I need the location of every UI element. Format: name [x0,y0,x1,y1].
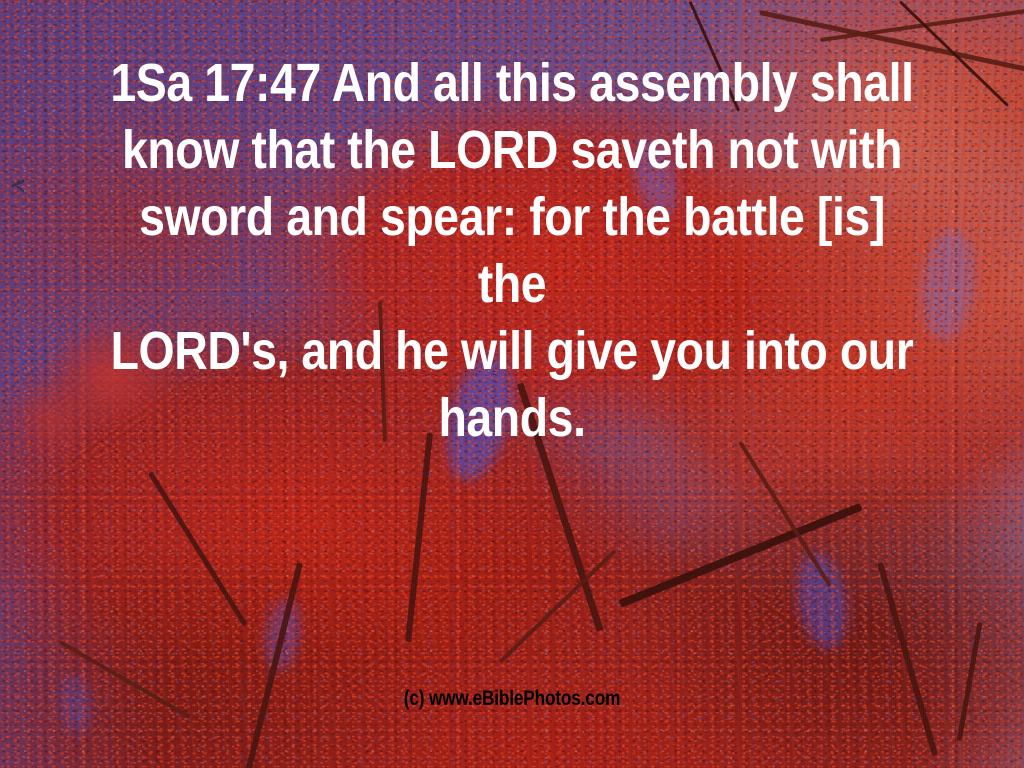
verse-text: 1Sa 17:47 And all this assembly shall kn… [72,50,953,452]
watermark-credit: (c) www.eBiblePhotos.com [92,688,932,710]
verse-image-canvas: 1Sa 17:47 And all this assembly shall kn… [0,0,1024,768]
